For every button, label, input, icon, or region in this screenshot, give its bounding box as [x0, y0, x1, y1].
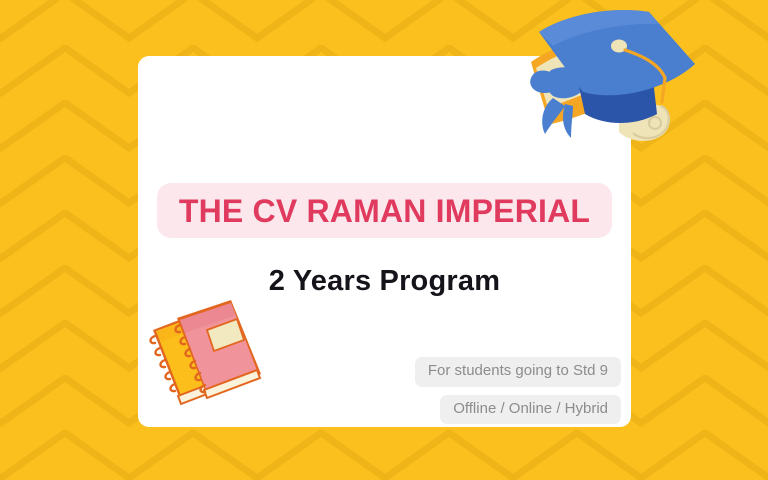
badge-mode: Offline / Online / Hybrid [440, 395, 621, 425]
graduation-cap-illustration [509, 6, 705, 172]
title-banner: THE CV RAMAN IMPERIAL [157, 183, 612, 238]
badge-eligibility: For students going to Std 9 [415, 357, 621, 387]
poster-canvas: THE CV RAMAN IMPERIAL 2 Years Program Fo… [0, 0, 768, 480]
info-badges: For students going to Std 9 Offline / On… [415, 357, 621, 424]
program-subtitle: 2 Years Program [138, 264, 631, 299]
notebooks-illustration [145, 296, 270, 418]
page-title: THE CV RAMAN IMPERIAL [179, 195, 590, 227]
